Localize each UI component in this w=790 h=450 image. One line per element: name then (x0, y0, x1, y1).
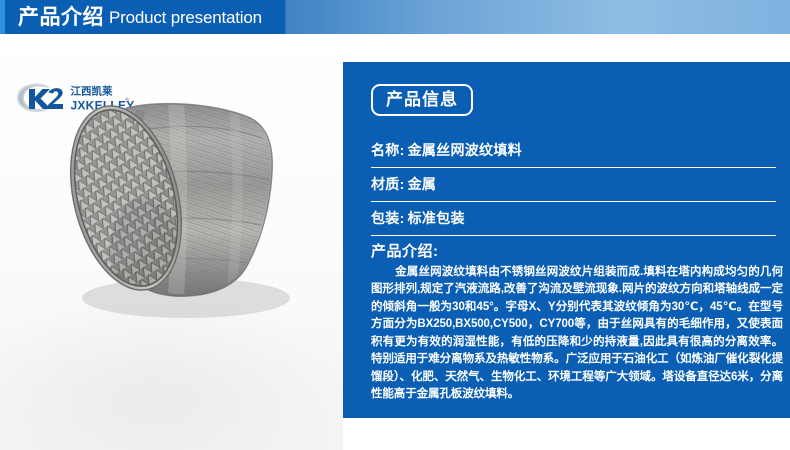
page-header-banner: 产品介绍 Product presentation (0, 0, 790, 34)
product-description-block: 产品介绍: 金属丝网波纹填料由不锈钢丝网波纹片组装而成.填料在塔内构成均匀的几何… (371, 240, 783, 404)
spec-row-packaging: 包装:标准包装 (371, 202, 776, 236)
spec-row-material: 材质:金属 (371, 168, 776, 202)
spec-list: 名称:金属丝网波纹填料 材质:金属 包装:标准包装 (371, 134, 776, 236)
header-title-english: Product presentation (109, 9, 262, 26)
spec-label-packaging: 包装: (371, 210, 405, 226)
description-heading: 产品介绍: (371, 240, 783, 261)
spec-label-material: 材质: (371, 176, 405, 192)
product-image (48, 72, 308, 322)
spec-value-material: 金属 (408, 176, 437, 192)
spec-value-packaging: 标准包装 (408, 210, 465, 226)
product-info-panel: 产品信息 名称:金属丝网波纹填料 材质:金属 包装:标准包装 产品介绍: 金属丝… (343, 62, 790, 418)
spec-row-name: 名称:金属丝网波纹填料 (371, 134, 776, 168)
product-info-badge: 产品信息 (371, 84, 473, 116)
header-title: 产品介绍 Product presentation (18, 0, 262, 34)
product-photo-area: 江西凯莱 JXKELLEY ® (0, 34, 343, 450)
description-text: 金属丝网波纹填料由不锈钢丝网波纹片组装而成.填料在塔内构成均匀的几何图形排列,规… (371, 264, 783, 404)
spec-label-name: 名称: (371, 142, 405, 158)
spec-value-name: 金属丝网波纹填料 (408, 142, 522, 158)
header-title-chinese: 产品介绍 (18, 7, 104, 28)
header-accent-stripe (0, 0, 5, 34)
